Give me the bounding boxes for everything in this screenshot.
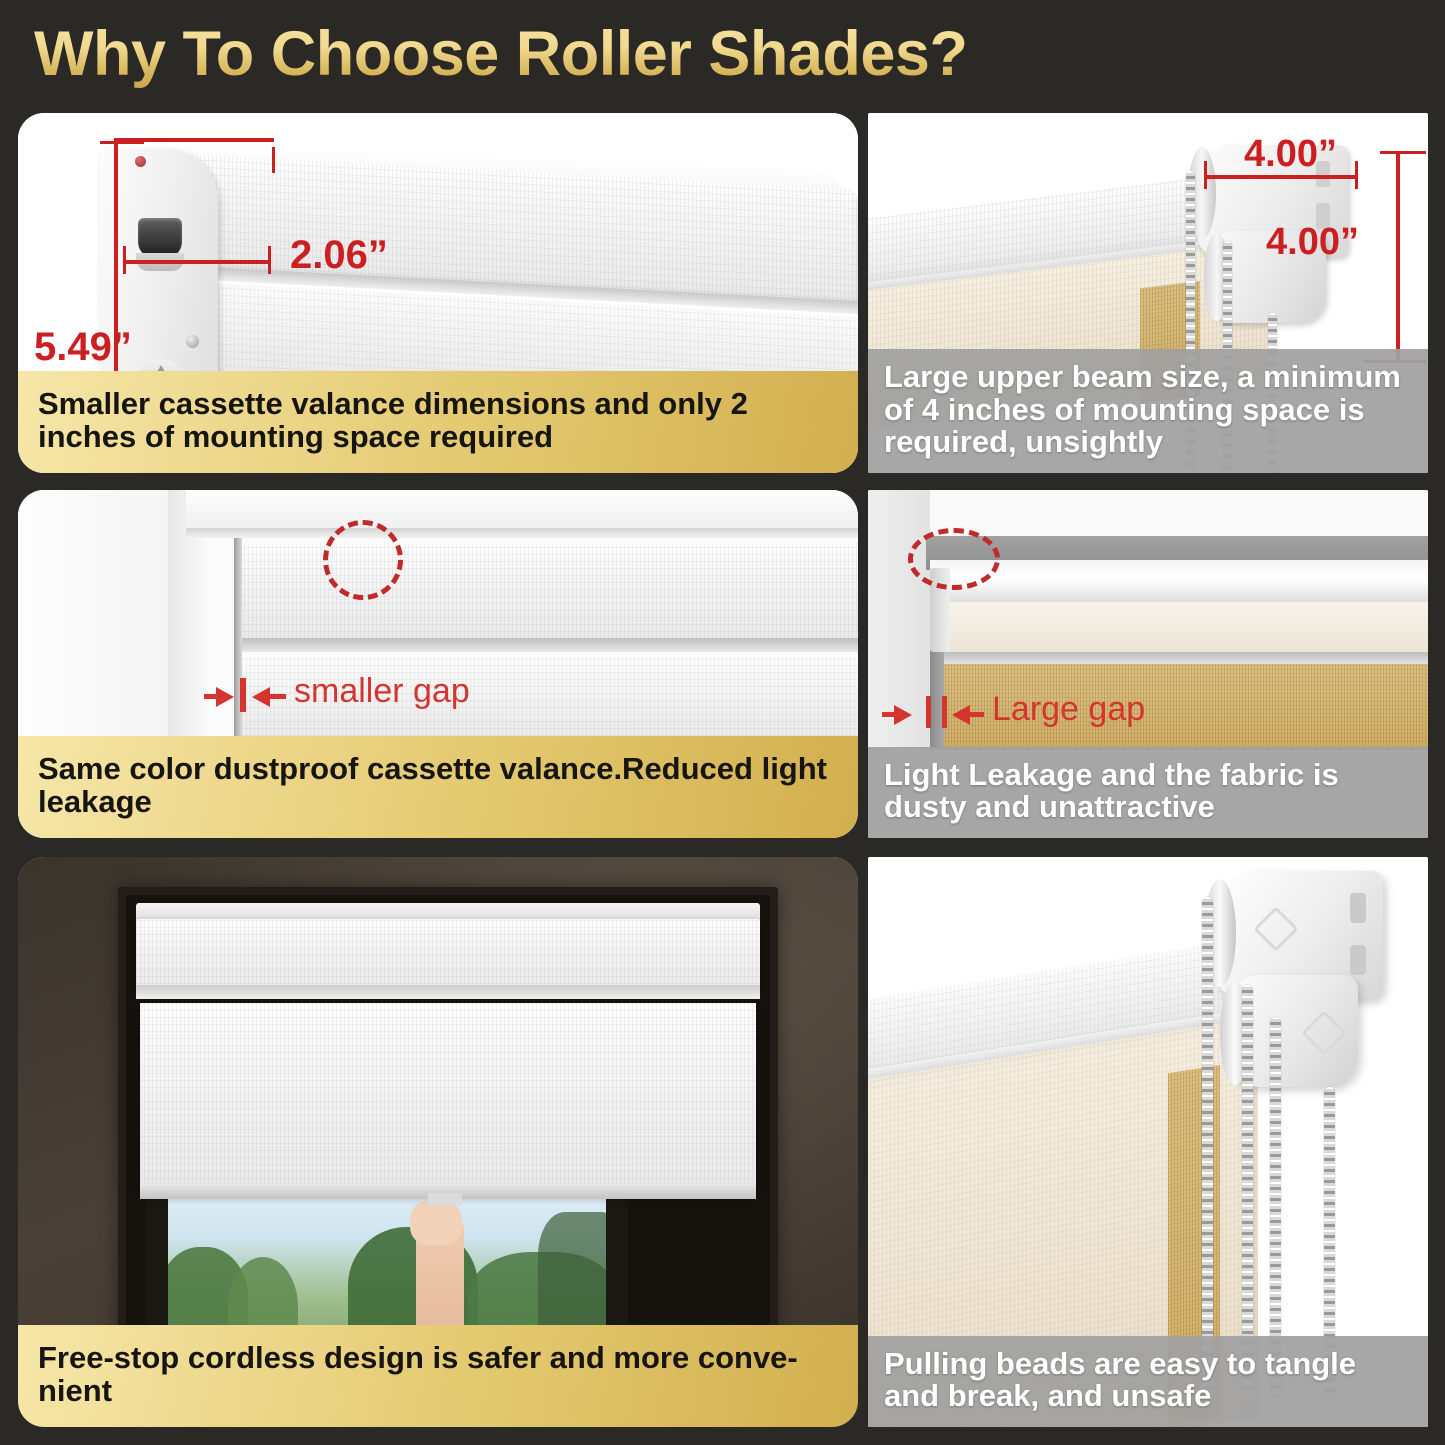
caption-bottom-left: Free-stop cordless design is safer and m… — [18, 1325, 858, 1427]
panel-bottom-right: Pulling beads are easy to tangle and bre… — [868, 857, 1428, 1427]
page-title: Why To Choose Roller Shades? — [34, 18, 967, 90]
panel-top-left: 2.06” 5.49” Smaller cassette valance dim… — [18, 113, 858, 473]
caption-middle-left: Same color dustproof cassette valance.Re… — [18, 736, 858, 838]
panel-middle-left: smaller gap Same color dustproof cassett… — [18, 490, 858, 838]
dimension-label-width: 4.00” — [1244, 133, 1337, 176]
gap-callout-label: Large gap — [992, 690, 1145, 729]
panel-bottom-left: Free-stop cordless design is safer and m… — [18, 857, 858, 1427]
title-bar: Why To Choose Roller Shades? — [0, 0, 1445, 108]
caption-middle-right: Light Leakage and the fabric is dusty an… — [868, 747, 1428, 838]
infographic-root: Why To Choose Roller Shades? — [0, 0, 1445, 1445]
panel-middle-right: Large gap Light Leakage and the fabric i… — [868, 490, 1428, 838]
dimension-label-width: 2.06” — [290, 233, 388, 278]
caption-bottom-right: Pulling beads are easy to tangle and bre… — [868, 1336, 1428, 1427]
dimension-label-height: 5.49” — [34, 325, 132, 370]
caption-top-right: Large upper beam size, a minimum of 4 in… — [868, 349, 1428, 473]
panel-top-right: 4.00” 4.00” Large upper beam size, a min… — [868, 113, 1428, 473]
caption-top-left: Smaller cassette valance dimensions and … — [18, 371, 858, 473]
gap-callout-label: smaller gap — [294, 672, 470, 711]
dimension-label-height: 4.00” — [1266, 221, 1359, 264]
